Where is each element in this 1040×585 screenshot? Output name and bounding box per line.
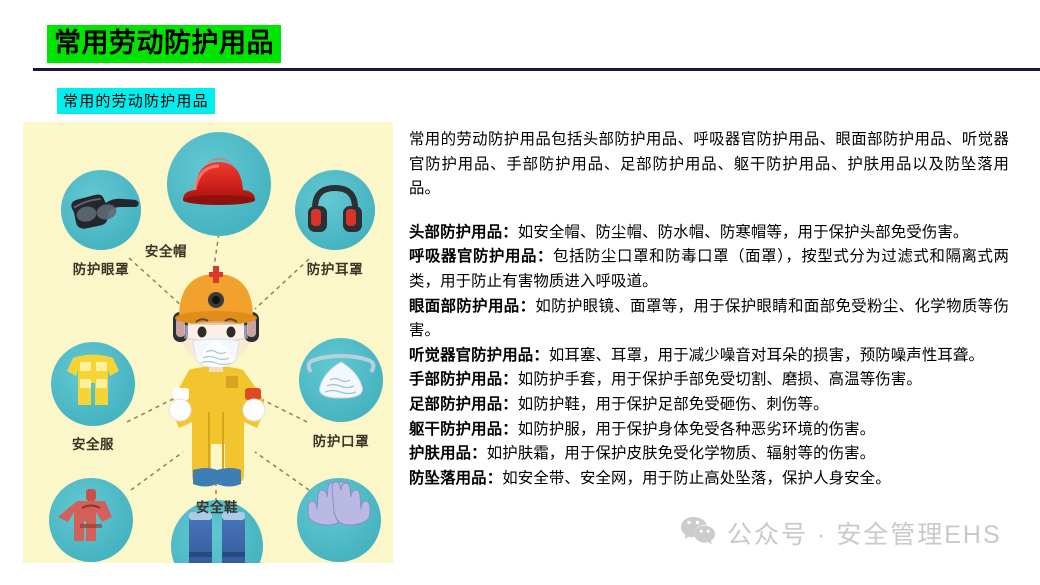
definition-skin-protection: 护肤用品：如护肤霜，用于保护皮肤免受化学物质、辐射等的伤害。	[409, 442, 1009, 467]
header-divider	[33, 68, 1040, 71]
ppe-item-coverall: 安全服	[51, 342, 135, 452]
definition-term: 呼吸器官防护用品：	[409, 248, 553, 265]
ppe-illustration: 安全帽 防护眼罩 防护耳罩	[23, 122, 393, 563]
definition-term: 头部防护用品：	[409, 224, 518, 241]
ppe-label-boots: 安全鞋	[196, 499, 238, 515]
definition-desc: 如防护服，用于保护身体免受各种恶劣环境的伤害。	[518, 421, 875, 438]
watermark-text: 公众号 · 安全管理EHS	[727, 515, 1002, 551]
definition-term: 防坠落用品：	[409, 470, 502, 487]
definition-term: 护肤用品：	[409, 445, 487, 462]
definition-term: 足部防护用品：	[409, 396, 518, 413]
definition-eye-face-protection: 眼面部防护用品：如防护眼镜、面罩等，用于保护眼睛和面部免受粉尘、化学物质等伤害。	[409, 295, 1009, 344]
wechat-icon	[680, 516, 716, 551]
definition-head-protection: 头部防护用品：如安全帽、防尘帽、防水帽、防寒帽等，用于保护头部免受伤害。	[409, 221, 1009, 246]
definition-term: 听觉器官防护用品：	[409, 347, 549, 364]
definition-fall-protection: 防坠落用品：如安全带、安全网，用于防止高处坠落，保护人身安全。	[409, 467, 1009, 492]
definition-desc: 如耳塞、耳罩，用于减少噪音对耳朵的损害，预防噪声性耳聋。	[549, 347, 984, 364]
ppe-item-goggles: 防护眼罩	[61, 170, 141, 277]
definition-torso-protection: 躯干防护用品：如防护服，用于保护身体免受各种恶劣环境的伤害。	[409, 418, 1009, 443]
content-text-block: 常用的劳动防护用品包括头部防护用品、呼吸器官防护用品、眼面部防护用品、听觉器官防…	[409, 128, 1009, 491]
definition-desc: 如防护手套，用于保护手部免受切割、磨损、高温等伤害。	[518, 371, 922, 388]
definition-term: 手部防护用品：	[409, 371, 518, 388]
section-subtitle: 常用的劳动防护用品	[57, 88, 215, 114]
definition-desc: 如安全帽、防尘帽、防水帽、防寒帽等，用于保护头部免受伤害。	[518, 224, 969, 241]
definition-hand-protection: 手部防护用品：如防护手套，用于保护手部免受切割、磨损、高温等伤害。	[409, 368, 1009, 393]
definition-hearing-protection: 听觉器官防护用品：如耳塞、耳罩，用于减少噪音对耳朵的损害，预防噪声性耳聋。	[409, 344, 1009, 369]
definition-desc: 如安全带、安全网，用于防止高处坠落，保护人身安全。	[502, 470, 891, 487]
page-title: 常用劳动防护用品	[47, 25, 281, 63]
definition-foot-protection: 足部防护用品：如防护鞋，用于保护足部免受砸伤、刺伤等。	[409, 393, 1009, 418]
definition-respiratory-protection: 呼吸器官防护用品：包括防尘口罩和防毒口罩（面罩），按型式分为过滤式和隔离式两类，…	[409, 245, 1009, 294]
definition-term: 躯干防护用品：	[409, 421, 518, 438]
ppe-item-hard-hat: 安全帽	[145, 132, 271, 259]
definition-desc: 如护肤霜，用于保护皮肤免受化学物质、辐射等的伤害。	[487, 445, 876, 462]
intro-paragraph: 常用的劳动防护用品包括头部防护用品、呼吸器官防护用品、眼面部防护用品、听觉器官防…	[409, 128, 1009, 202]
ppe-item-harness: 安全带	[49, 478, 133, 563]
ppe-label-coverall: 安全服	[72, 436, 114, 452]
ppe-item-gloves: 防护手套	[297, 478, 381, 563]
ppe-label-ear-muffs: 防护耳罩	[307, 261, 363, 277]
definition-desc: 如防护鞋，用于保护足部免受砸伤、刺伤等。	[518, 396, 829, 413]
ppe-item-boots: 安全鞋	[171, 499, 263, 563]
watermark: 公众号 · 安全管理EHS	[680, 515, 1002, 551]
ppe-label-goggles: 防护眼罩	[73, 261, 129, 277]
ppe-item-dust-mask: 防护口罩	[299, 338, 383, 449]
ppe-label-hard-hat: 安全帽	[145, 243, 187, 259]
cartoon-safety-worker	[169, 266, 265, 487]
definition-term: 眼面部防护用品：	[409, 298, 535, 315]
ppe-label-dust-mask: 防护口罩	[313, 433, 369, 449]
